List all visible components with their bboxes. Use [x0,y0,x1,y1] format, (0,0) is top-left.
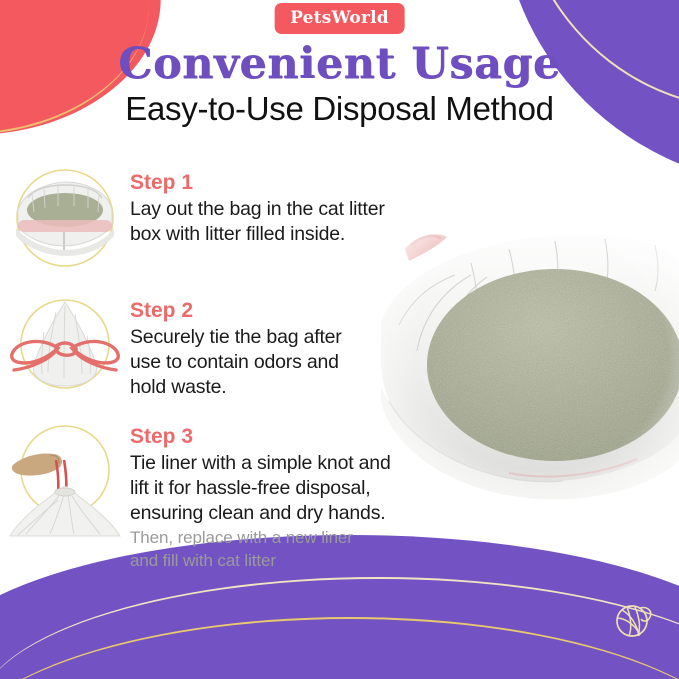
step-1-body-line-1: Lay out the bag in the cat litter [130,197,385,222]
title-block: Convenient Usage Easy-to-Use Disposal Me… [0,42,679,126]
step-1-text: Step 1 Lay out the bag in the cat litter… [130,158,385,247]
pink-band [18,220,112,232]
step-item-1: Step 1 Lay out the bag in the cat litter… [0,158,470,278]
step-1-heading: Step 1 [130,170,385,195]
litter-box-with-liner-icon [0,158,130,278]
step-2-heading: Step 2 [130,298,342,323]
page-subtitle: Easy-to-Use Disposal Method [0,92,679,127]
bottom-cream-arc [0,577,679,679]
step-2-text: Step 2 Securely tie the bag after use to… [130,286,342,400]
step-item-3: Step 3 Tie liner with a simple knot and … [0,412,470,573]
step-1-icon-wrap [0,158,130,278]
steps-list: Step 1 Lay out the bag in the cat litter… [0,158,470,587]
step-3-note-line-2: and fill with cat litter [130,550,391,572]
step-2-body-line-2: use to contain odors and [130,350,342,375]
hand [12,453,62,475]
yarn-ball-icon [609,597,655,643]
brand-logo-badge: PetsWorld [274,3,405,34]
step-3-body-line-2: lift it for hassle-free disposal, [130,476,391,501]
step-3-body-line-3: ensuring clean and dry hands. [130,501,391,526]
step-3-icon-wrap [0,412,130,532]
step-1-body-line-2: box with litter filled inside. [130,222,385,247]
bottom-gold-arc [0,617,679,679]
infographic-canvas: PetsWorld Convenient Usage Easy-to-Use D… [0,0,679,679]
tied-bag-with-bow-icon [0,286,130,406]
step-3-note-line-1: Then, replace with a new liner [130,527,391,549]
step-item-2: Step 2 Securely tie the bag after use to… [0,286,470,406]
page-title: Convenient Usage [0,42,679,87]
step-2-icon-wrap [0,286,130,406]
step-3-body-line-1: Tie liner with a simple knot and [130,451,391,476]
step-3-heading: Step 3 [130,424,391,449]
step-2-body-line-1: Securely tie the bag after [130,325,342,350]
hand-lifting-bag-icon [0,412,130,538]
step-3-text: Step 3 Tie liner with a simple knot and … [130,412,391,573]
step-2-body-line-3: hold waste. [130,375,342,400]
